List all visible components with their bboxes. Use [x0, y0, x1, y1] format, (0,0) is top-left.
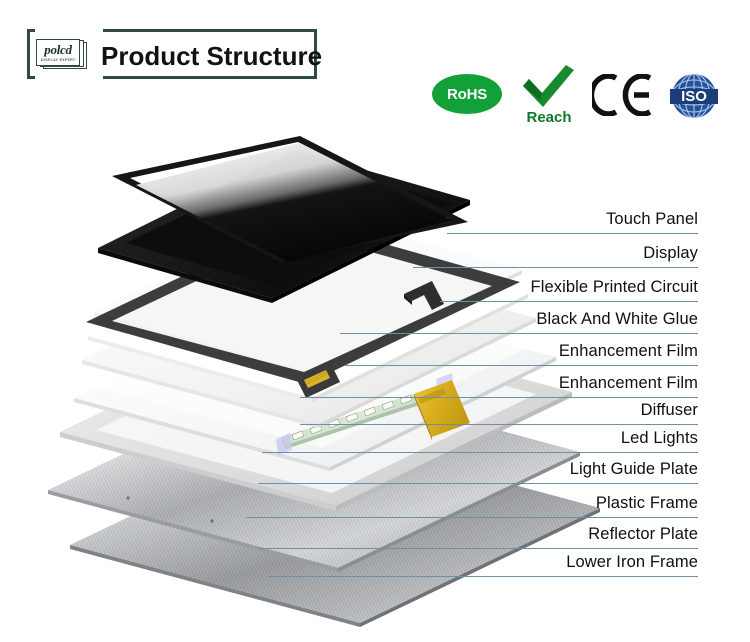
label-light-guide-plate: Light Guide Plate: [570, 460, 698, 479]
leader-line-led-lights: [262, 452, 698, 453]
logo-wordmark: polcd: [44, 43, 71, 56]
iso-badge: ISO: [670, 72, 718, 120]
leader-line-enhancement-film-1: [344, 365, 698, 366]
ce-badge: CE: [592, 74, 654, 116]
label-flexible-printed-circuit: Flexible Printed Circuit: [531, 278, 698, 297]
label-black-white-glue: Black And White Glue: [536, 310, 698, 329]
page-title: Product Structure: [101, 41, 322, 72]
brand-logo: polcd DISPLAY EXPERT: [34, 38, 90, 70]
leader-line-lower-iron-frame: [268, 576, 698, 577]
label-diffuser: Diffuser: [641, 401, 698, 420]
label-led-lights: Led Lights: [621, 429, 698, 448]
leader-line-display: [413, 267, 698, 268]
label-enhancement-film-2: Enhancement Film: [559, 374, 698, 393]
leader-line-enhancement-film-2: [300, 397, 698, 398]
checkmark-icon: [519, 64, 577, 110]
leader-line-plastic-frame: [246, 517, 698, 518]
leader-line-diffuser: [300, 424, 698, 425]
reach-badge: Reach: [517, 64, 579, 136]
iso-label: ISO: [681, 88, 707, 105]
leader-line-reflector-plate: [258, 548, 698, 549]
leader-line-black-white-glue: [340, 333, 698, 334]
rohs-badge: RoHS: [432, 74, 502, 114]
certification-badges: RoHS Reach CE: [432, 64, 722, 136]
label-enhancement-film-1: Enhancement Film: [559, 342, 698, 361]
leader-line-touch-panel: [447, 233, 698, 234]
label-plastic-frame: Plastic Frame: [596, 494, 698, 513]
reach-label: Reach: [519, 109, 579, 126]
leader-line-light-guide-plate: [258, 483, 698, 484]
label-touch-panel: Touch Panel: [606, 210, 698, 229]
rohs-label: RoHS: [447, 86, 487, 103]
product-structure-page: polcd DISPLAY EXPERT Product Structure R…: [0, 0, 750, 642]
logo-subtitle: DISPLAY EXPERT: [41, 58, 75, 62]
label-display: Display: [643, 244, 698, 263]
iso-globe-icon: ISO: [670, 72, 718, 120]
label-reflector-plate: Reflector Plate: [588, 525, 698, 544]
leader-line-flexible-printed-circuit: [440, 301, 698, 302]
label-lower-iron-frame: Lower Iron Frame: [566, 553, 698, 572]
ce-mark-icon: [592, 74, 654, 116]
